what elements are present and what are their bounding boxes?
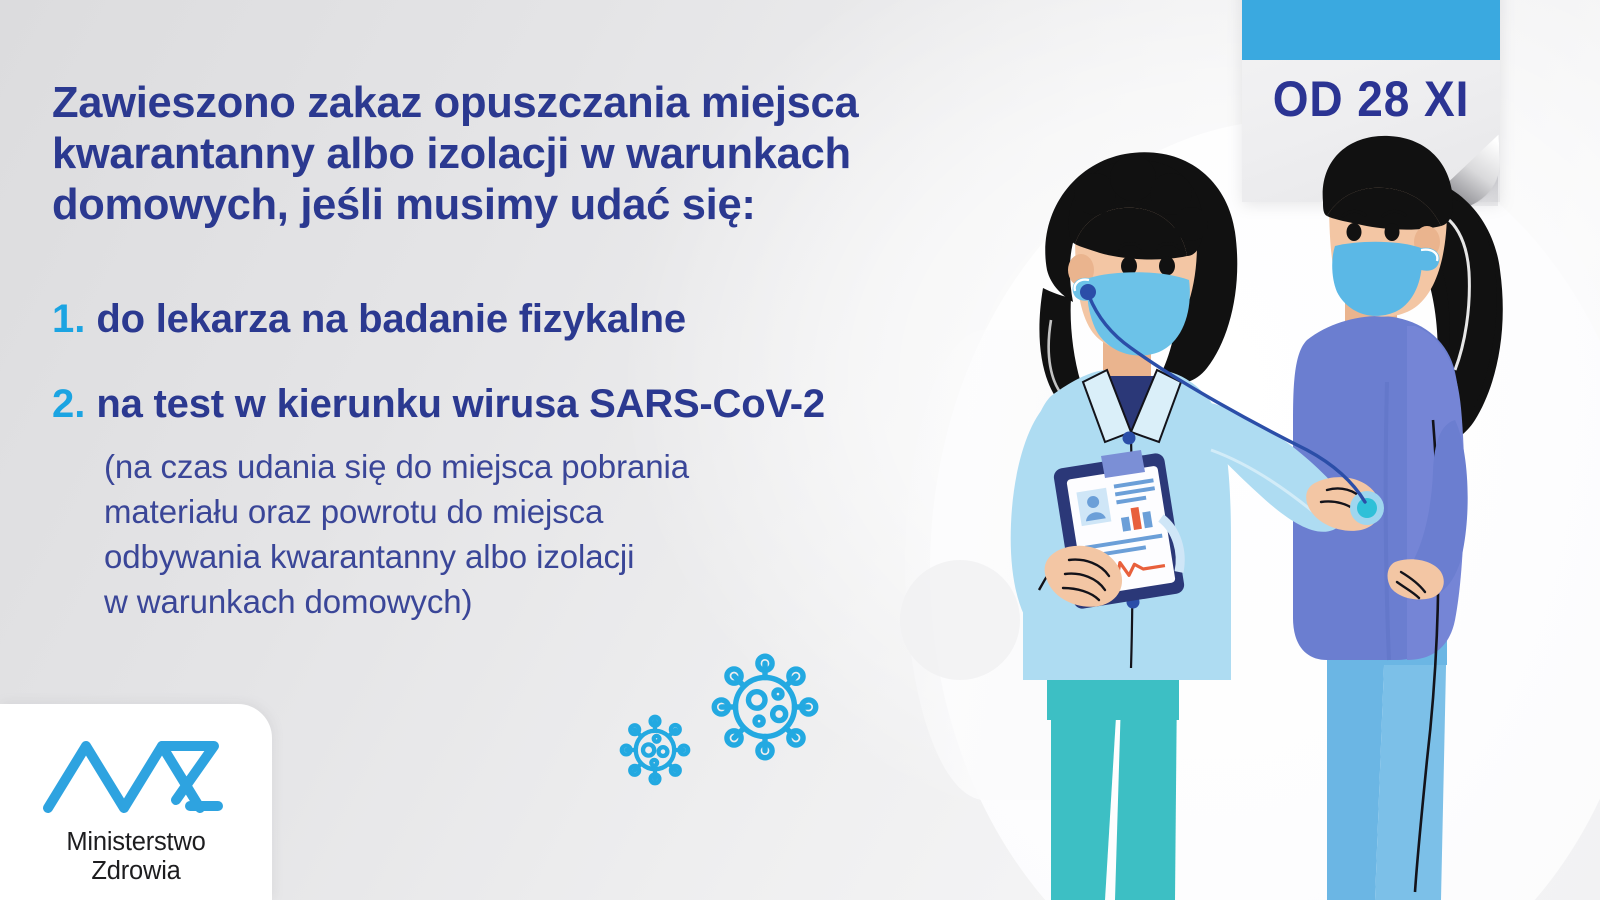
headline-line-3: domowych, jeśli musimy udać się: bbox=[52, 180, 982, 231]
note-line-1: (na czas udania się do miejsca pobrania bbox=[104, 444, 924, 489]
virus-icon-large bbox=[706, 648, 824, 766]
list-text-1: do lekarza na badanie fizykalne bbox=[96, 296, 686, 342]
headline-line-1: Zawieszono zakaz opuszczania miejsca bbox=[52, 78, 982, 129]
calendar-header bbox=[1242, 0, 1500, 60]
infographic-canvas: Zawieszono zakaz opuszczania miejsca kwa… bbox=[0, 0, 1600, 900]
list-text-2: na test w kierunku wirusa SARS-CoV-2 bbox=[96, 381, 825, 427]
note-line-3: odbywania kwarantanny albo izolacji bbox=[104, 534, 924, 579]
list-item: 2. na test w kierunku wirusa SARS-CoV-2 bbox=[52, 381, 825, 427]
note-line-4: w warunkach domowych) bbox=[104, 579, 924, 624]
illustration-doctor-examining-patient bbox=[955, 120, 1555, 900]
virus-icon-small bbox=[615, 710, 695, 790]
page-title: Zawieszono zakaz opuszczania miejsca kwa… bbox=[52, 78, 982, 231]
ministry-logo-label: Ministerstwo Zdrowia bbox=[30, 828, 242, 886]
list-item: 1. do lekarza na badanie fizykalne bbox=[52, 296, 686, 342]
list-marker-2: 2. bbox=[52, 381, 85, 427]
list-item-2-note: (na czas udania się do miejsca pobrania … bbox=[104, 444, 924, 624]
ministry-logo-card: Ministerstwo Zdrowia bbox=[0, 704, 272, 900]
mz-logo-icon bbox=[42, 736, 230, 818]
headline-line-2: kwarantanny albo izolacji w warunkach bbox=[52, 129, 982, 180]
list-marker-1: 1. bbox=[52, 296, 85, 342]
note-line-2: materiału oraz powrotu do miejsca bbox=[104, 489, 924, 534]
